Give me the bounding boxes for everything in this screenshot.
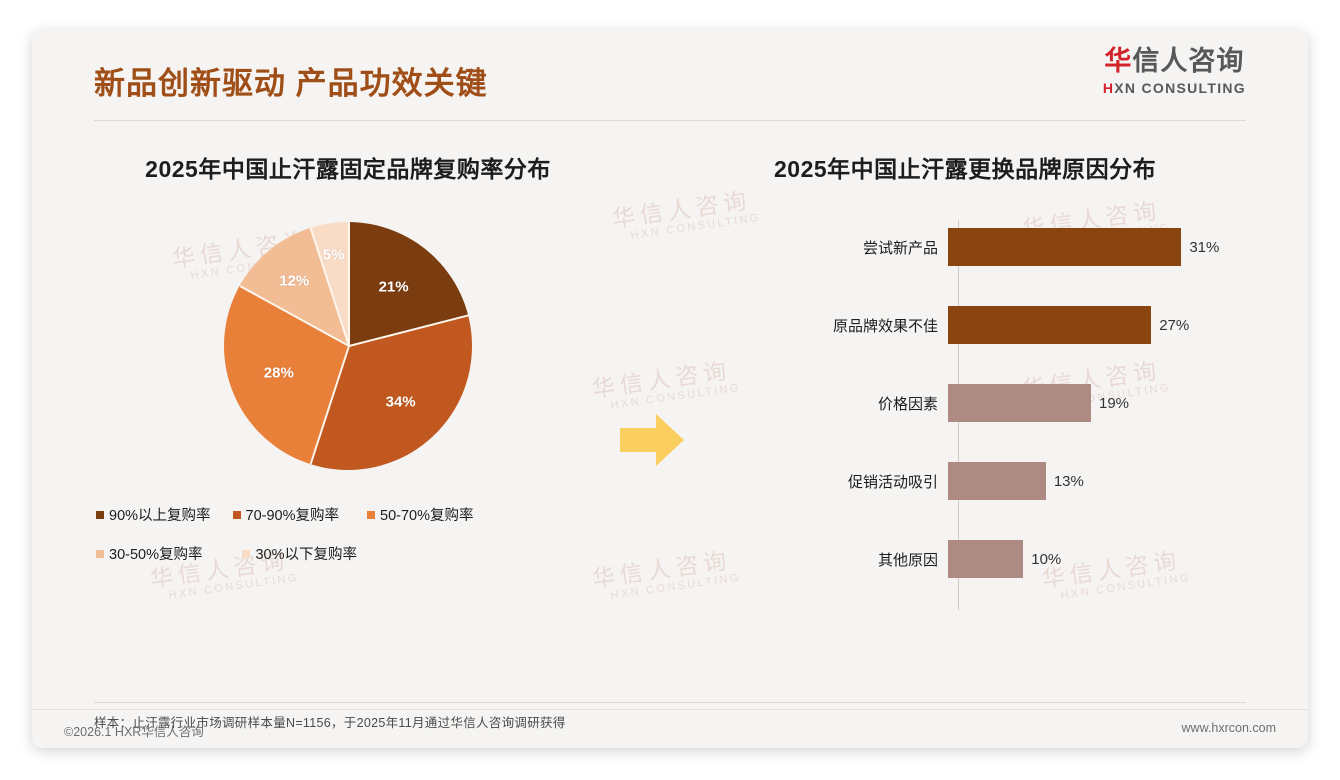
brand-logo-cn-accent: 华 bbox=[1104, 46, 1132, 76]
legend-row: 30-50%复购率 30%以下复购率 bbox=[96, 543, 604, 564]
bar-track: 13% bbox=[948, 462, 1282, 500]
legend-swatch bbox=[242, 550, 250, 558]
brand-logo-en: HXN CONSULTING bbox=[1103, 81, 1246, 95]
slide-card: 华信人咨询 HXN CONSULTING 华信人咨询 HXN CONSULTIN… bbox=[32, 30, 1308, 748]
brand-logo: 华信人咨询 HXN CONSULTING bbox=[1103, 48, 1246, 95]
bar-value-label: 13% bbox=[1054, 473, 1084, 490]
bar-track: 31% bbox=[948, 228, 1282, 266]
pie-legend: 90%以上复购率 70-90%复购率 50-70%复购率 30-50%复购率 bbox=[68, 504, 628, 564]
bar-row: 尝试新产品 31% bbox=[722, 228, 1282, 266]
legend-swatch bbox=[233, 511, 241, 519]
pie-chart: 21%34%28%12%5% bbox=[224, 222, 472, 470]
pie-chart-title: 2025年中国止汗露固定品牌复购率分布 bbox=[68, 150, 628, 184]
legend-item-0[interactable]: 90%以上复购率 bbox=[96, 504, 211, 525]
footer-website[interactable]: www.hxrcon.com bbox=[1182, 721, 1276, 735]
legend-item-3[interactable]: 30-50%复购率 bbox=[96, 543, 202, 564]
bar-track: 10% bbox=[948, 540, 1282, 578]
header-divider bbox=[94, 120, 1246, 121]
legend-label: 30-50%复购率 bbox=[109, 543, 202, 564]
pie-slice-divider bbox=[348, 222, 350, 346]
bar-value-label: 10% bbox=[1031, 551, 1061, 568]
footer-copyright: ©2026.1 HXR华信人咨询 bbox=[64, 721, 204, 740]
slide-header: 新品创新驱动 产品功效关键 华信人咨询 HXN CONSULTING bbox=[32, 30, 1308, 122]
bar-fill[interactable] bbox=[948, 384, 1091, 422]
pie-slice-value: 28% bbox=[264, 365, 294, 382]
bar-value-label: 31% bbox=[1189, 239, 1219, 256]
bar-value-label: 19% bbox=[1099, 395, 1129, 412]
pie-slice-value: 5% bbox=[323, 247, 345, 264]
brand-logo-cn-rest: 信人咨询 bbox=[1132, 46, 1244, 76]
pie-slice-value: 34% bbox=[386, 394, 416, 411]
bar-category-label: 促销活动吸引 bbox=[722, 471, 948, 492]
legend-item-4[interactable]: 30%以下复购率 bbox=[242, 543, 357, 564]
legend-swatch bbox=[96, 511, 104, 519]
bar-track: 19% bbox=[948, 384, 1282, 422]
pie-slice-value: 21% bbox=[379, 279, 409, 296]
pie-slice-value: 12% bbox=[279, 273, 309, 290]
right-arrow-icon bbox=[616, 404, 688, 476]
bar-category-label: 其他原因 bbox=[722, 549, 948, 570]
bar-track: 27% bbox=[948, 306, 1282, 344]
bar-chart-panel: 2025年中国止汗露更换品牌原因分布 尝试新产品 31% 原品牌效果不佳 27%… bbox=[722, 150, 1282, 670]
bar-value-label: 27% bbox=[1159, 317, 1189, 334]
legend-label: 90%以上复购率 bbox=[109, 504, 211, 525]
slide-footer: ©2026.1 HXR华信人咨询 www.hxrcon.com bbox=[32, 709, 1308, 748]
bar-row: 价格因素 19% bbox=[722, 384, 1282, 422]
legend-item-2[interactable]: 50-70%复购率 bbox=[367, 504, 473, 525]
bar-chart: 尝试新产品 31% 原品牌效果不佳 27% 价格因素 19% bbox=[722, 220, 1282, 610]
legend-item-1[interactable]: 70-90%复购率 bbox=[233, 504, 339, 525]
bar-fill[interactable] bbox=[948, 306, 1151, 344]
bar-fill[interactable] bbox=[948, 540, 1023, 578]
bar-category-label: 原品牌效果不佳 bbox=[722, 315, 948, 336]
brand-logo-en-rest: XN CONSULTING bbox=[1114, 80, 1246, 96]
bar-row: 其他原因 10% bbox=[722, 540, 1282, 578]
legend-label: 30%以下复购率 bbox=[255, 543, 357, 564]
legend-row: 90%以上复购率 70-90%复购率 50-70%复购率 bbox=[96, 504, 604, 525]
pie-chart-panel: 2025年中国止汗露固定品牌复购率分布 21%34%28%12%5% 90%以上… bbox=[68, 150, 628, 670]
bar-row: 原品牌效果不佳 27% bbox=[722, 306, 1282, 344]
legend-swatch bbox=[96, 550, 104, 558]
bar-row: 促销活动吸引 13% bbox=[722, 462, 1282, 500]
footnote-divider bbox=[94, 702, 1246, 703]
legend-label: 50-70%复购率 bbox=[380, 504, 473, 525]
bar-fill[interactable] bbox=[948, 462, 1046, 500]
bar-category-label: 价格因素 bbox=[722, 393, 948, 414]
page-title: 新品创新驱动 产品功效关键 bbox=[94, 58, 488, 103]
bar-fill[interactable] bbox=[948, 228, 1181, 266]
bar-category-label: 尝试新产品 bbox=[722, 237, 948, 258]
brand-logo-en-accent: H bbox=[1103, 80, 1114, 96]
brand-logo-cn: 华信人咨询 bbox=[1103, 48, 1246, 75]
legend-label: 70-90%复购率 bbox=[246, 504, 339, 525]
legend-swatch bbox=[367, 511, 375, 519]
bar-chart-title: 2025年中国止汗露更换品牌原因分布 bbox=[722, 150, 1282, 184]
